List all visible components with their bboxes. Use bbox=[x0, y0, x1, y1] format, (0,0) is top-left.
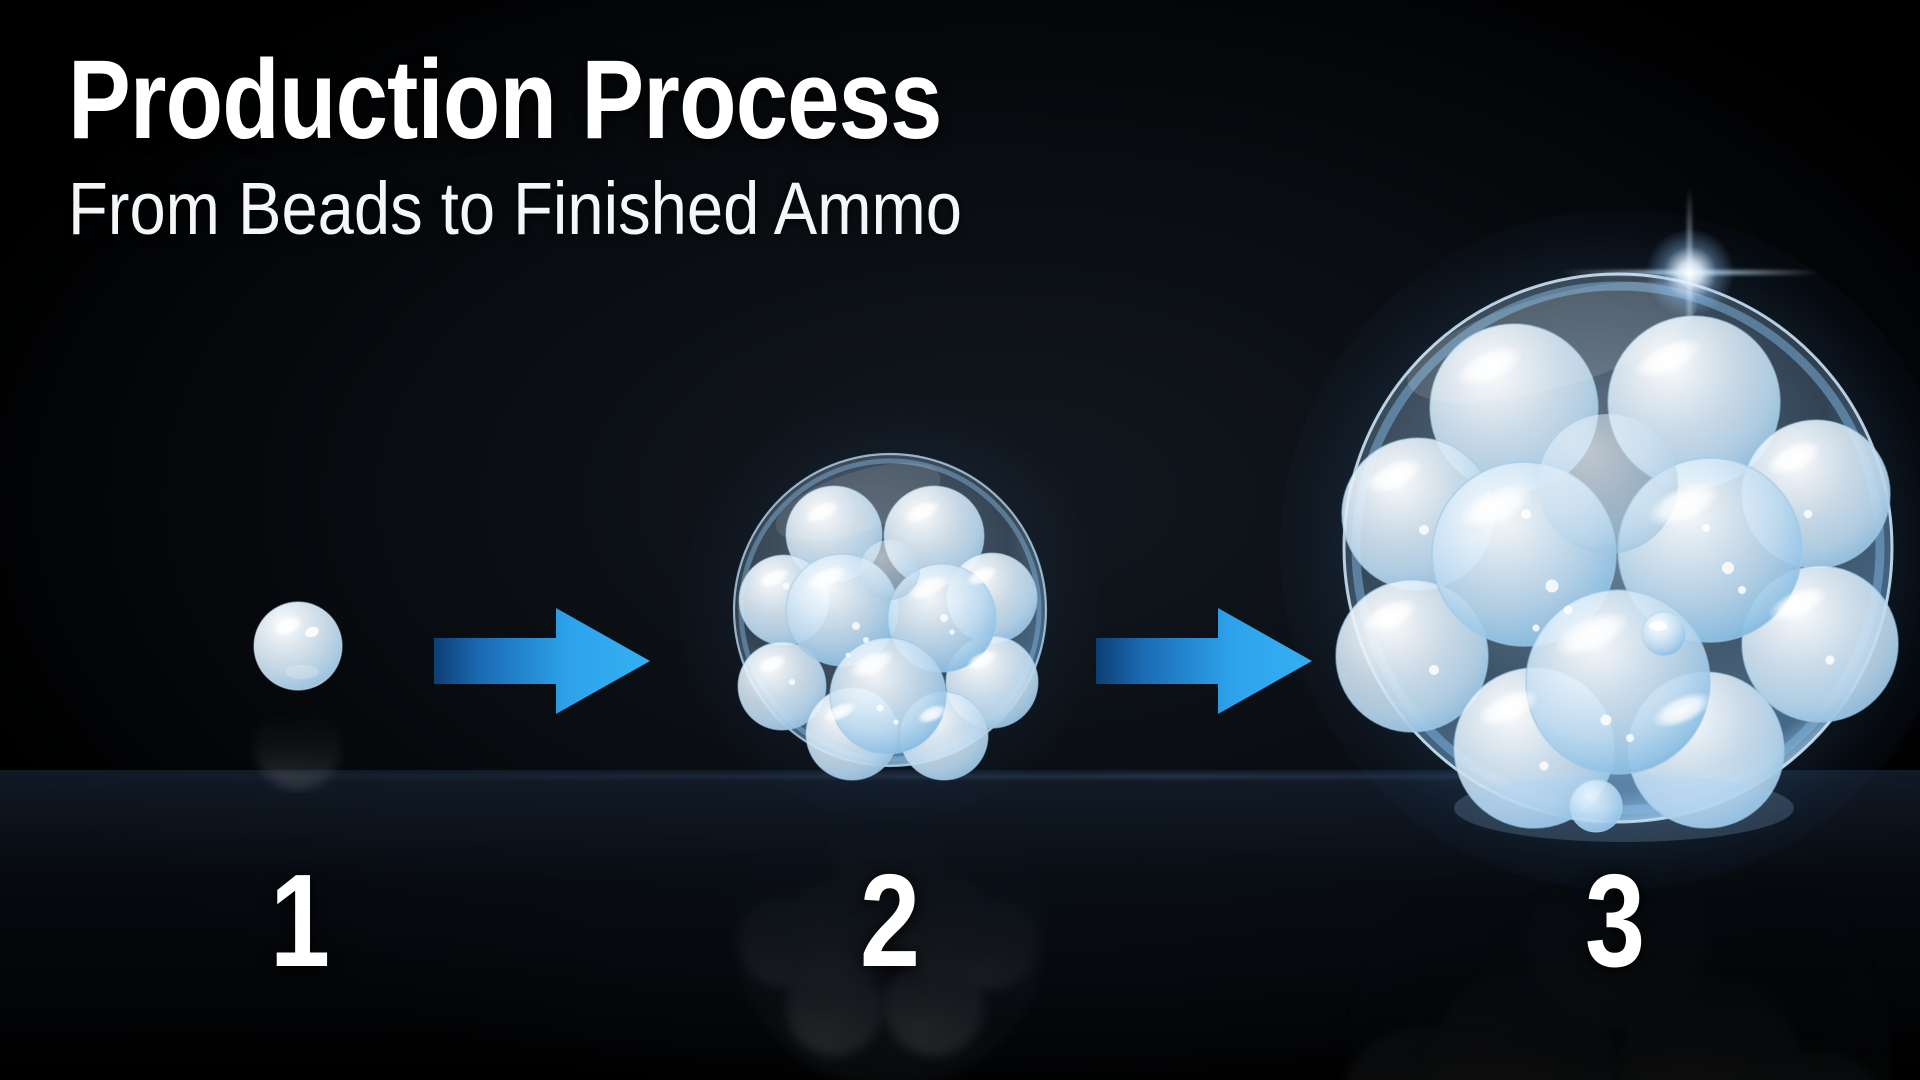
arrow-step1-to-step2[interactable] bbox=[428, 600, 662, 727]
arrow-step2-to-step3[interactable] bbox=[1090, 600, 1324, 727]
bubble-reflection-icon bbox=[250, 697, 346, 793]
step-number-1: 1 bbox=[230, 855, 369, 987]
finished-ammo-cluster[interactable] bbox=[1338, 268, 1898, 828]
infographic-canvas: Production Process From Beads to Finishe… bbox=[0, 0, 1920, 1080]
arrow-right-icon bbox=[1090, 600, 1324, 722]
step-number-2: 2 bbox=[820, 855, 959, 987]
process-steps: 1 bbox=[0, 0, 1920, 1080]
step-number-3: 3 bbox=[1545, 855, 1684, 987]
arrow-right-icon bbox=[428, 600, 662, 722]
bubble-cluster-icon bbox=[730, 450, 1050, 770]
bubble-icon bbox=[250, 598, 346, 694]
single-bead-reflection bbox=[250, 697, 346, 793]
bubble-cluster-icon bbox=[1338, 268, 1898, 828]
bead-cluster[interactable] bbox=[730, 450, 1050, 770]
single-bead[interactable] bbox=[250, 598, 346, 694]
